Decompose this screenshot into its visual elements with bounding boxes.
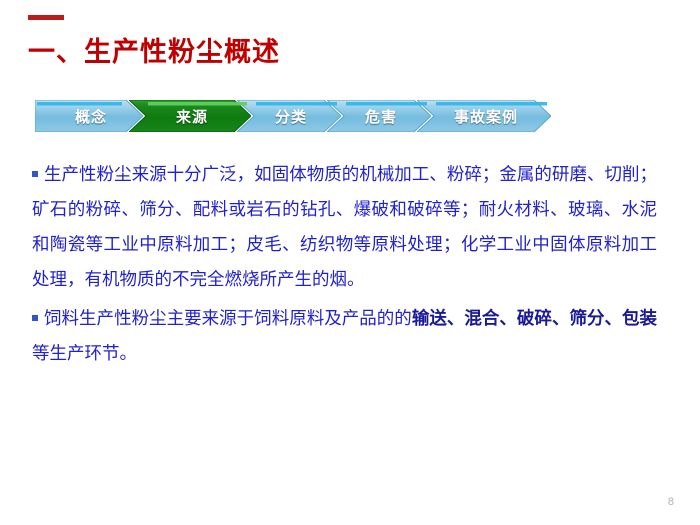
content-body: 生产性粉尘来源十分广泛，如固体物质的机械加工、粉碎；金属的研磨、切削；矿石的粉碎… [32,158,657,376]
square-bullet-icon [32,171,38,177]
page-title: 一、生产性粉尘概述 [28,30,280,69]
nav-chevron-1[interactable]: 概念 [35,100,143,132]
nav-chevron-label: 概念 [71,106,107,127]
title-accent-bar [28,15,64,20]
nav-chevron-label: 分类 [271,106,307,127]
content-run: 等生产环节。 [32,344,137,364]
nav-chevron-2[interactable]: 来源 [129,100,251,132]
nav-chevron-4[interactable]: 危害 [327,100,431,132]
slide-canvas: 一、生产性粉尘概述 概念来源分类危害事故案例 生产性粉尘来源十分广泛，如固体物质… [0,0,700,525]
nav-chevron-3[interactable]: 分类 [237,100,341,132]
section-chevron-nav: 概念来源分类危害事故案例 [35,100,570,132]
nav-chevron-label: 危害 [361,106,397,127]
content-run: 饲料生产性粉尘主要来源于饲料原料及产品的的 [44,309,412,329]
content-run-emphasis: 输送、混合、破碎、筛分、包装 [412,309,657,329]
square-bullet-icon [32,315,38,321]
nav-chevron-label: 事故案例 [450,106,518,127]
page-number: 8 [668,496,674,508]
nav-chevron-label: 来源 [172,106,208,127]
content-bullet-1: 生产性粉尘来源十分广泛，如固体物质的机械加工、粉碎；金属的研磨、切削；矿石的粉碎… [32,158,657,298]
nav-chevron-5[interactable]: 事故案例 [417,100,551,132]
content-run: 生产性粉尘来源十分广泛，如固体物质的机械加工、粉碎；金属的研磨、切削；矿石的粉碎… [32,165,657,290]
content-bullet-2: 饲料生产性粉尘主要来源于饲料原料及产品的的输送、混合、破碎、筛分、包装等生产环节… [32,302,657,372]
